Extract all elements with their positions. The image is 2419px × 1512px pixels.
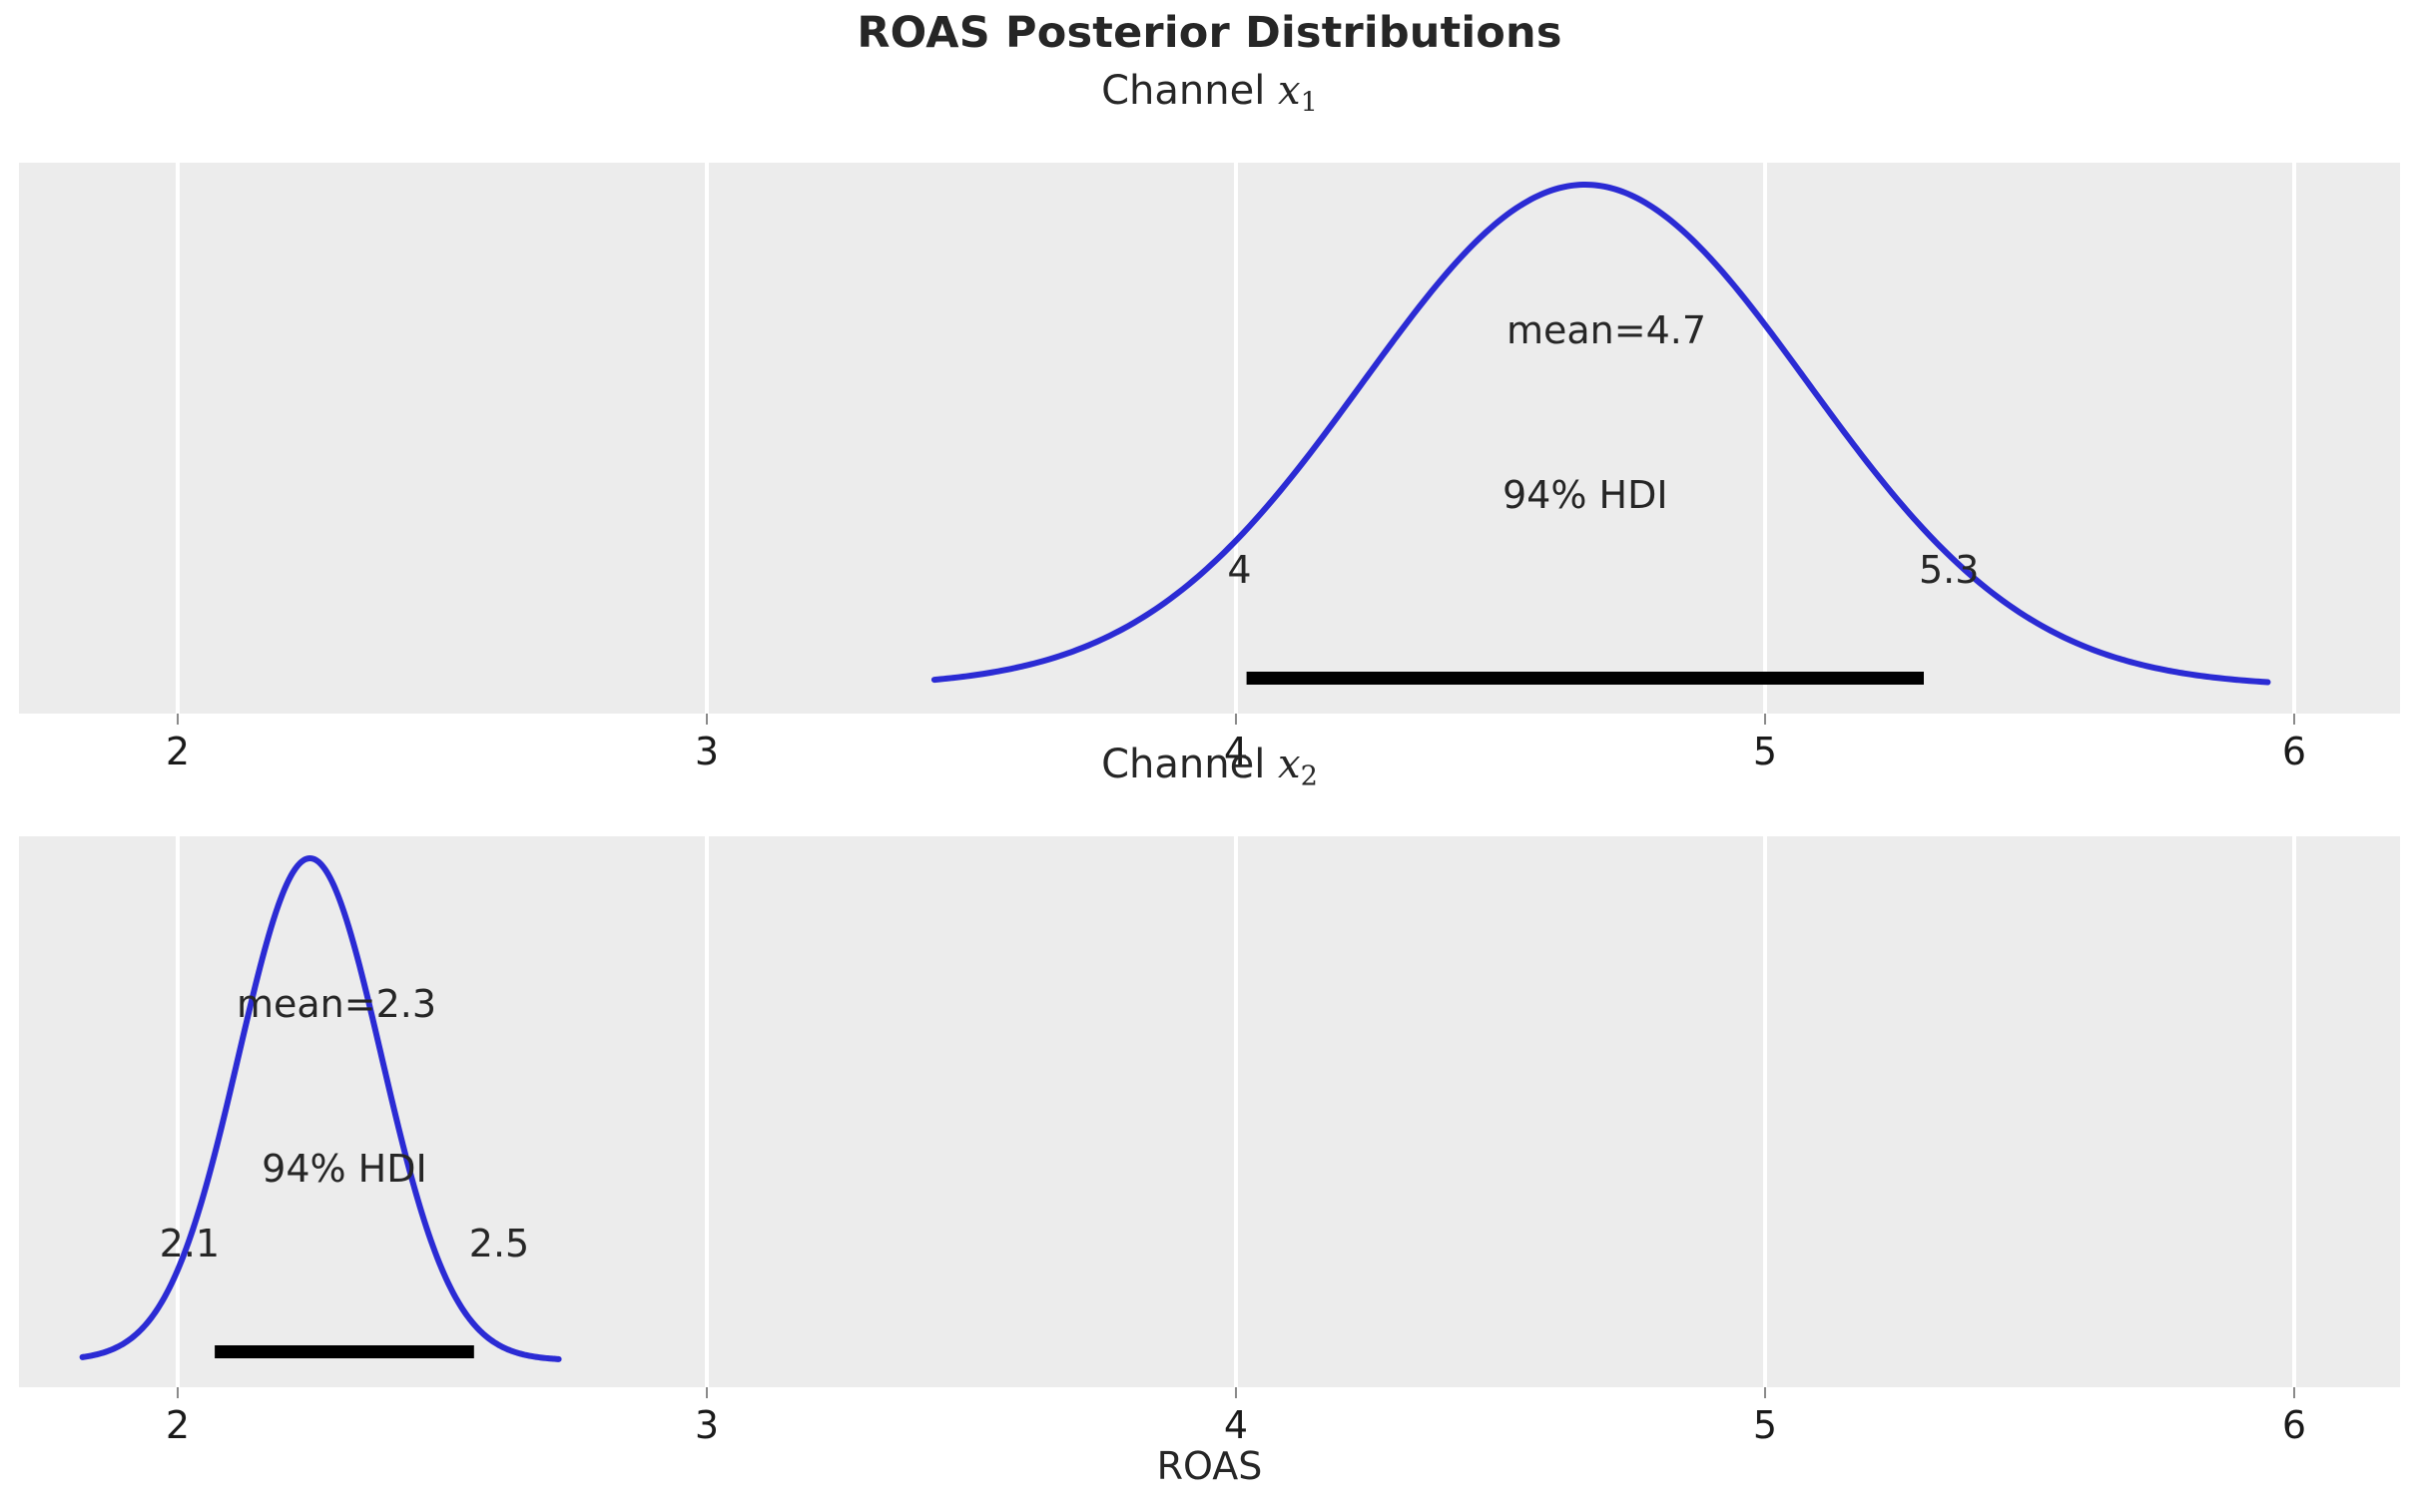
x-tick-mark (706, 714, 708, 725)
x-tick-label: 2 (166, 1403, 190, 1447)
x-tick-label: 4 (1224, 1403, 1248, 1447)
grid-lines-panel-1 (178, 163, 2294, 714)
plot-svg-panel-1 (19, 163, 2400, 714)
x-tick-mark (2293, 714, 2295, 725)
density-curve-panel-1 (934, 185, 2268, 683)
plot-svg-panel-2 (19, 836, 2400, 1387)
x-tick-mark (1764, 714, 1766, 725)
hdi-low-label-panel-1: 4 (1227, 548, 1251, 592)
grid-lines-panel-2 (178, 836, 2294, 1387)
x-tick-mark (706, 1387, 708, 1398)
hdi-bar-panel-2 (215, 1345, 474, 1358)
hdi-low-label-panel-2: 2.1 (160, 1222, 220, 1265)
x-tick-mark (1764, 1387, 1766, 1398)
x-tick-label: 5 (1753, 1403, 1777, 1447)
subplot-title-1: Channel x1 (0, 68, 2419, 119)
subplot-title-2-text: Channel (1101, 742, 1278, 787)
density-curve-panel-2 (83, 858, 559, 1359)
subplot-title-2-sub: 2 (1301, 761, 1318, 792)
axes-panel-2: mean=2.3 94% HDI 2.1 2.5 (19, 836, 2400, 1387)
xaxis-label: ROAS (0, 1444, 2419, 1488)
hdi-annotation-panel-1: 94% HDI (1503, 473, 1668, 517)
x-tick-label: 6 (2282, 1403, 2306, 1447)
subplot-title-1-var: x (1278, 68, 1301, 114)
x-tick-label: 3 (695, 1403, 719, 1447)
x-tick-mark (1235, 1387, 1237, 1398)
x-tick-mark (2293, 1387, 2295, 1398)
hdi-high-label-panel-1: 5.3 (1919, 548, 1979, 592)
hdi-high-label-panel-2: 2.5 (469, 1222, 529, 1265)
hdi-bar-panel-1 (1247, 672, 1924, 685)
figure-canvas: ROAS Posterior Distributions Channel x1 … (0, 0, 2419, 1512)
subplot-title-2: Channel x2 (0, 742, 2419, 792)
figure-title: ROAS Posterior Distributions (0, 8, 2419, 58)
subplot-title-2-var: x (1278, 742, 1301, 787)
axes-panel-1: mean=4.7 94% HDI 4 5.3 (19, 163, 2400, 714)
x-tick-mark (177, 1387, 179, 1398)
subplot-title-1-text: Channel (1101, 68, 1278, 114)
subplot-title-1-sub: 1 (1301, 88, 1318, 119)
hdi-annotation-panel-2: 94% HDI (262, 1147, 427, 1191)
x-tick-mark (1235, 714, 1237, 725)
mean-annotation-panel-2: mean=2.3 (237, 982, 436, 1026)
x-tick-mark (177, 714, 179, 725)
mean-annotation-panel-1: mean=4.7 (1507, 308, 1706, 352)
